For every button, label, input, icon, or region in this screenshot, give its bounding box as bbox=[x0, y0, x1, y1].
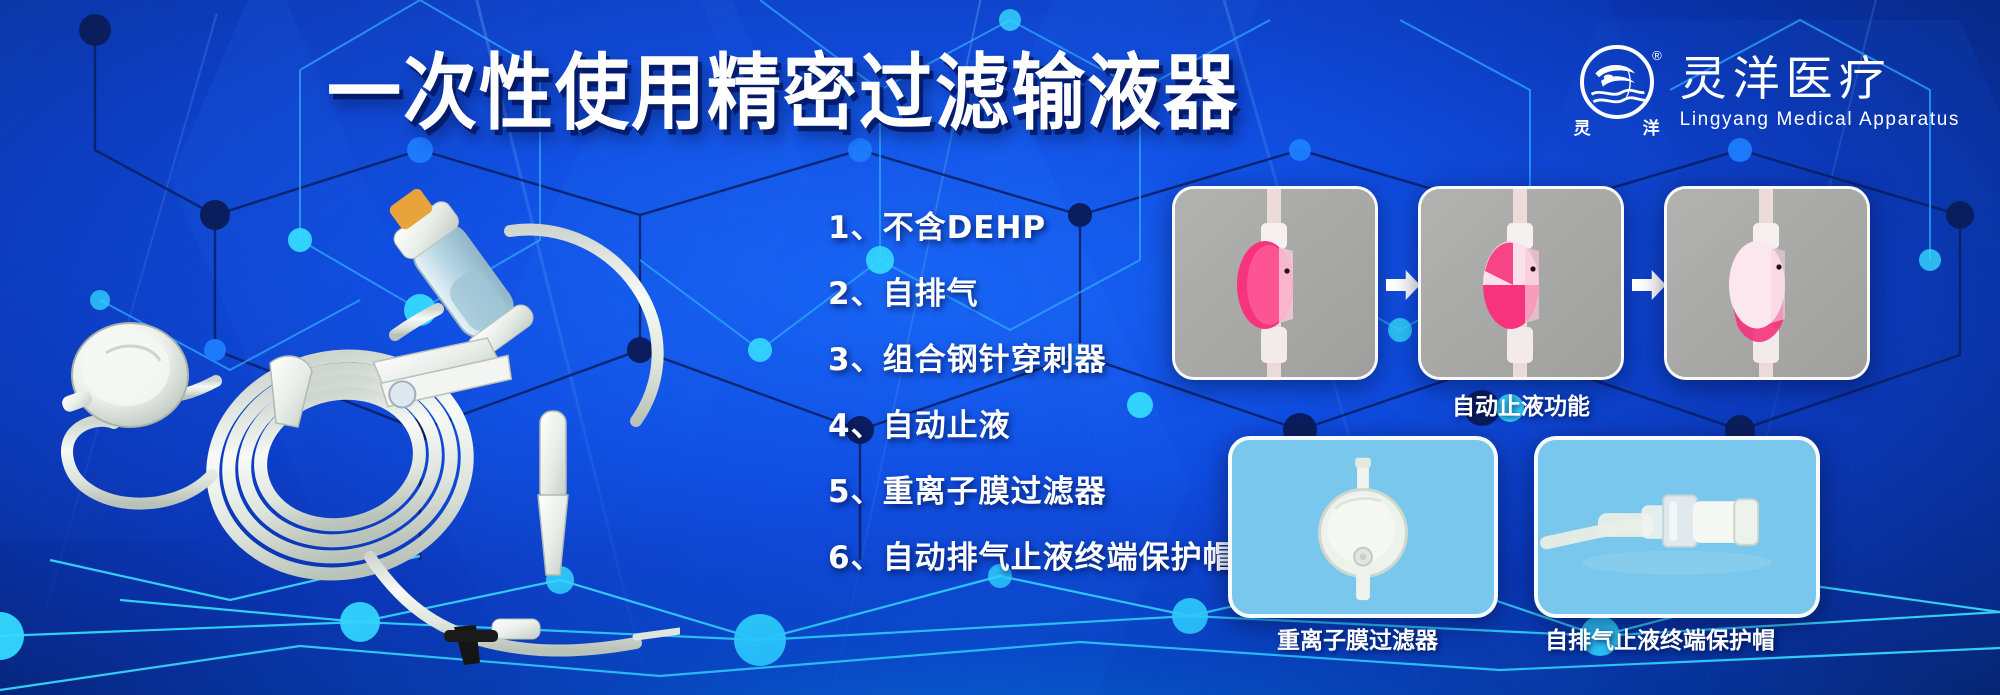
sequence-frame-1 bbox=[1172, 186, 1378, 380]
logo-char-right: 洋 bbox=[1643, 121, 1660, 138]
logo-char-left: 灵 bbox=[1574, 121, 1591, 138]
wave-fish-icon bbox=[1584, 49, 1650, 115]
brand-name-block: 灵洋医疗 Lingyang Medical Apparatus bbox=[1680, 55, 1960, 131]
sequence-caption: 自动止液功能 bbox=[1452, 396, 1590, 419]
product-panel-filter bbox=[1228, 436, 1498, 618]
sequence-frame-3 bbox=[1664, 186, 1870, 380]
product-panel-cap-caption: 自排气止液终端保护帽 bbox=[1545, 630, 1775, 653]
filter-disc-icon bbox=[1232, 440, 1494, 614]
product-banner: 一次性使用精密过滤输液器 ® 灵 洋 灵洋医疗 Lingyang bbox=[0, 0, 2000, 695]
registered-trademark-icon: ® bbox=[1652, 49, 1662, 62]
product-panel-cap bbox=[1534, 436, 1820, 618]
brand-logo-mark: ® 灵 洋 bbox=[1574, 45, 1660, 141]
infusion-set-photo bbox=[40, 175, 680, 675]
sequence-frame-2 bbox=[1418, 186, 1624, 380]
feature-item-4: 4、自动止液 bbox=[828, 411, 1235, 442]
feature-item-6: 6、自动排气止液终端保护帽 bbox=[828, 543, 1235, 574]
luer-connector-icon bbox=[1538, 440, 1816, 614]
auto-stop-photo-full bbox=[1175, 189, 1375, 377]
brand-name-en: Lingyang Medical Apparatus bbox=[1680, 109, 1960, 131]
filter-disc bbox=[60, 323, 188, 427]
auto-stop-photo-half bbox=[1421, 189, 1621, 377]
feature-item-5: 5、重离子膜过滤器 bbox=[828, 477, 1235, 508]
auto-stop-photo-empty bbox=[1667, 189, 1867, 377]
page-title: 一次性使用精密过滤输液器 bbox=[327, 52, 1239, 135]
product-panel-filter-caption: 重离子膜过滤器 bbox=[1277, 630, 1438, 653]
logo-subtext: 灵 洋 bbox=[1574, 121, 1660, 138]
brand-name-cn: 灵洋医疗 bbox=[1680, 55, 1960, 104]
logo-circle-icon bbox=[1580, 45, 1654, 119]
brand-lockup: ® 灵 洋 灵洋医疗 Lingyang Medical Apparatus bbox=[1574, 45, 1960, 141]
